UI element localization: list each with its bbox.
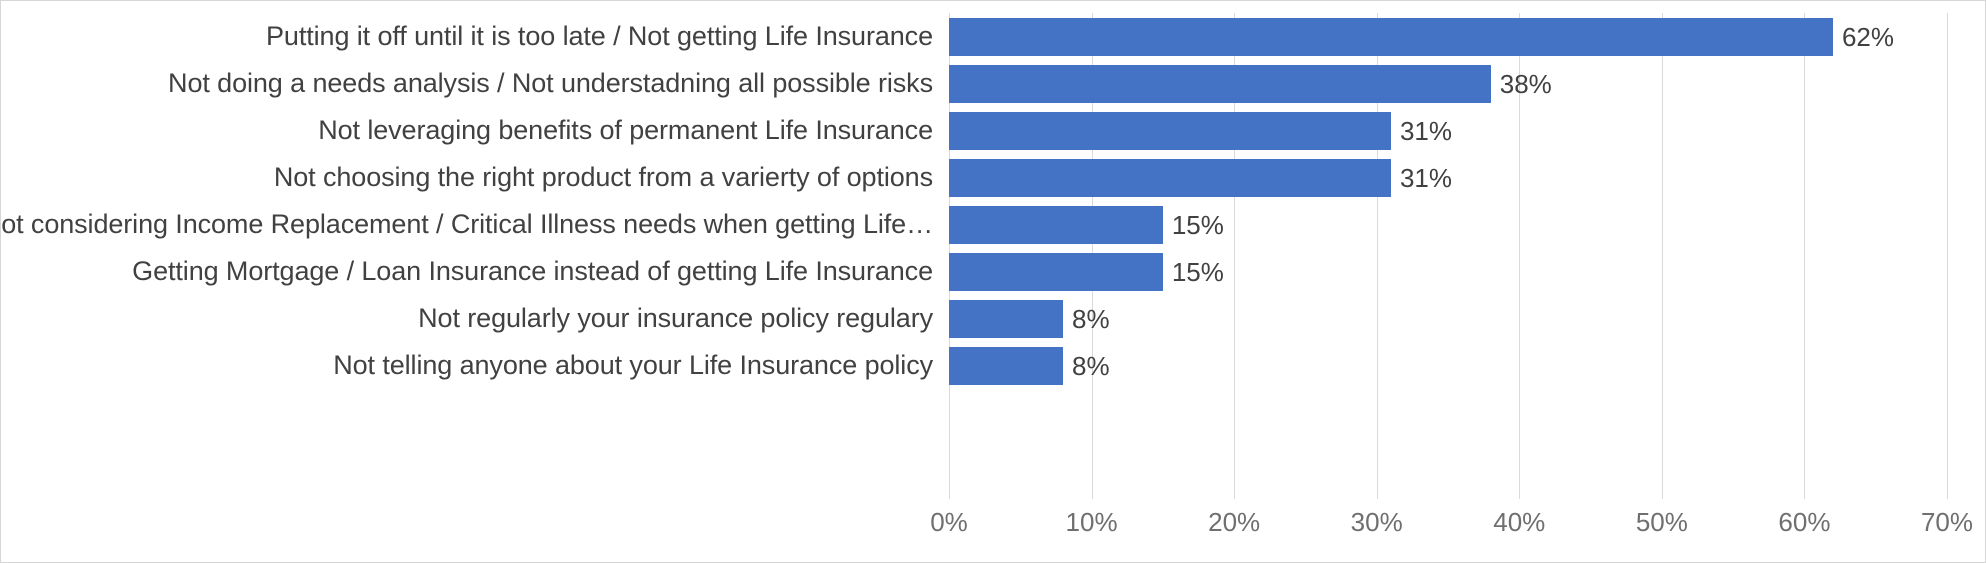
category-label: Not regularly your insurance policy regu… — [418, 295, 933, 342]
value-axis-tick-label: 10% — [1066, 507, 1118, 538]
value-axis-tick-label: 20% — [1208, 507, 1260, 538]
bar-row: 31% — [949, 154, 1947, 201]
bar-row: 31% — [949, 107, 1947, 154]
bar[interactable] — [949, 300, 1063, 338]
bar[interactable] — [949, 65, 1491, 103]
value-axis-tick-label: 70% — [1921, 507, 1973, 538]
bar-series: 62%38%31%31%15%15%8%8% — [949, 13, 1947, 499]
gridline — [1947, 13, 1948, 499]
bar-value-label: 15% — [1163, 253, 1224, 291]
bar[interactable] — [949, 253, 1163, 291]
category-label: Not doing a needs analysis / Not underst… — [168, 60, 933, 107]
bar-row: 15% — [949, 248, 1947, 295]
category-label: Getting Mortgage / Loan Insurance instea… — [132, 248, 933, 295]
category-label: Not choosing the right product from a va… — [274, 154, 933, 201]
value-axis-tick-label: 60% — [1778, 507, 1830, 538]
bar[interactable] — [949, 159, 1391, 197]
value-axis-tick-label: 0% — [930, 507, 968, 538]
bar-value-label: 31% — [1391, 159, 1452, 197]
plot-area: 62%38%31%31%15%15%8%8% — [949, 13, 1947, 499]
category-label: Not telling anyone about your Life Insur… — [333, 342, 933, 389]
bar-value-label: 8% — [1063, 300, 1110, 338]
bar[interactable] — [949, 347, 1063, 385]
value-axis: 0%10%20%30%40%50%60%70% — [949, 501, 1947, 549]
value-axis-tick-label: 30% — [1351, 507, 1403, 538]
bar-chart: Putting it off until it is too late / No… — [0, 0, 1986, 563]
category-axis: Putting it off until it is too late / No… — [1, 1, 941, 499]
category-label: Putting it off until it is too late / No… — [266, 13, 933, 60]
category-label: Not leveraging benefits of permanent Lif… — [318, 107, 933, 154]
bar-value-label: 31% — [1391, 112, 1452, 150]
bar-value-label: 62% — [1833, 18, 1894, 56]
bar-row: 8% — [949, 342, 1947, 389]
bar[interactable] — [949, 18, 1833, 56]
bar-value-label: 15% — [1163, 206, 1224, 244]
value-axis-tick-label: 50% — [1636, 507, 1688, 538]
bar-row: 62% — [949, 13, 1947, 60]
bar-row: 8% — [949, 295, 1947, 342]
bar-row: 38% — [949, 60, 1947, 107]
bar-value-label: 8% — [1063, 347, 1110, 385]
bar[interactable] — [949, 112, 1391, 150]
bar-row: 15% — [949, 201, 1947, 248]
bar[interactable] — [949, 206, 1163, 244]
category-label: Not considering Income Replacement / Cri… — [0, 201, 933, 248]
value-axis-tick-label: 40% — [1493, 507, 1545, 538]
bar-value-label: 38% — [1491, 65, 1552, 103]
